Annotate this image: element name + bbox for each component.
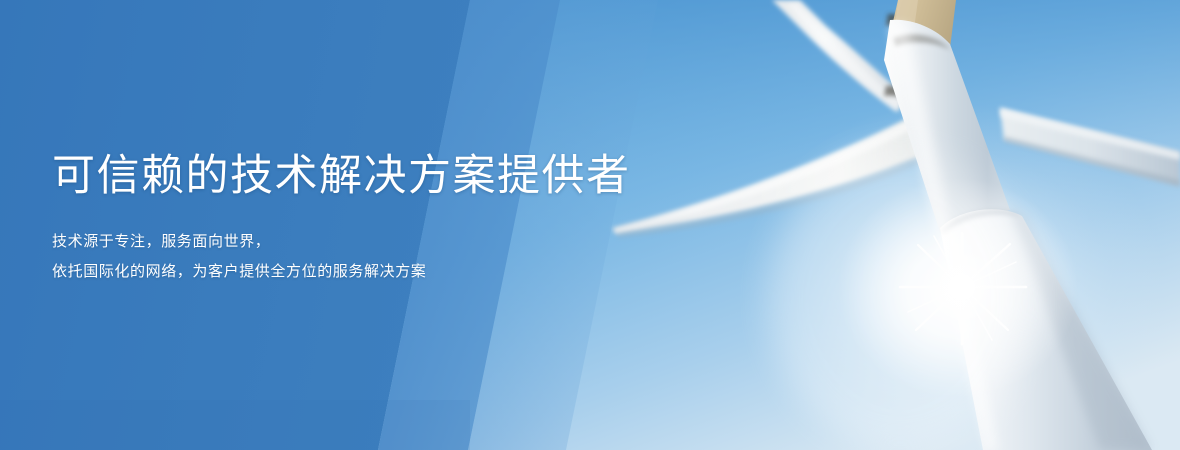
banner-subtitle-line-1: 技术源于专注，服务面向世界， <box>52 227 692 257</box>
bottom-vignette <box>0 400 470 450</box>
banner-text-block: 可信赖的技术解决方案提供者 技术源于专注，服务面向世界， 依托国际化的网络，为客… <box>52 150 692 287</box>
banner-subtitle-line-2: 依托国际化的网络，为客户提供全方位的服务解决方案 <box>52 257 692 287</box>
glare-spill <box>770 150 1030 450</box>
hero-banner: 可信赖的技术解决方案提供者 技术源于专注，服务面向世界， 依托国际化的网络，为客… <box>0 0 1180 450</box>
banner-headline: 可信赖的技术解决方案提供者 <box>52 150 692 202</box>
banner-subtitle-group: 技术源于专注，服务面向世界， 依托国际化的网络，为客户提供全方位的服务解决方案 <box>52 227 692 287</box>
